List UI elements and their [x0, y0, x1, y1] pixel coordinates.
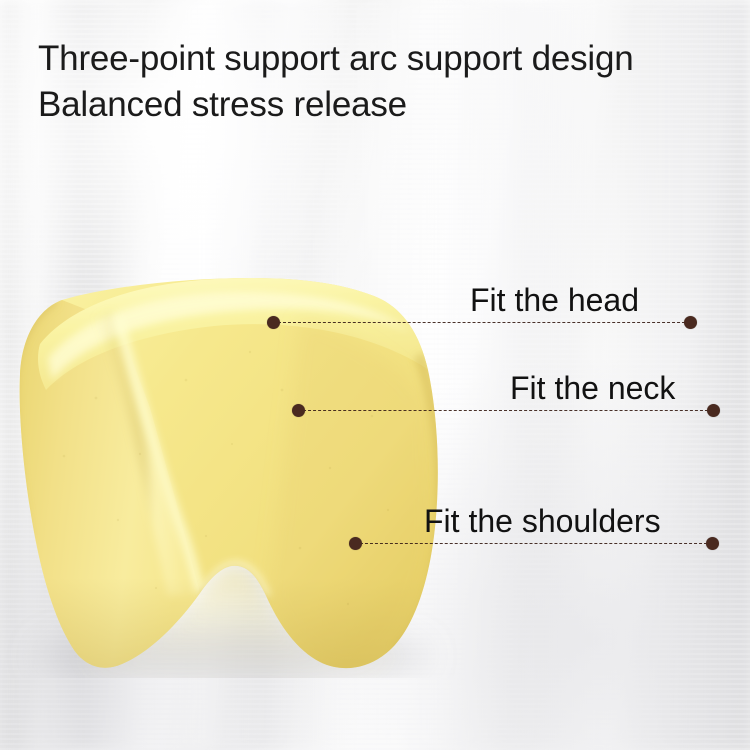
anchor-dot-neck-right [707, 404, 720, 417]
anchor-dot-neck-left [292, 404, 305, 417]
product-image-neck-pillow [0, 248, 470, 678]
anchor-dot-head-right [684, 316, 697, 329]
pillow-illustration [0, 248, 470, 678]
annotation-label-shoulders: Fit the shoulders [424, 505, 661, 537]
leader-line-shoulders [355, 543, 712, 544]
infographic-canvas: Three-point support arc support design B… [0, 0, 750, 750]
anchor-dot-head-left [267, 316, 280, 329]
anchor-dot-shoulders-right [706, 537, 719, 550]
page-title-line-2: Balanced stress release [38, 82, 728, 128]
page-title-line-1: Three-point support arc support design [38, 36, 728, 82]
anchor-dot-shoulders-left [349, 537, 362, 550]
leader-line-neck [298, 410, 713, 411]
leader-line-head [273, 322, 690, 323]
annotation-label-neck: Fit the neck [510, 372, 675, 404]
page-title: Three-point support arc support design B… [38, 36, 728, 127]
annotation-label-head: Fit the head [470, 284, 639, 316]
